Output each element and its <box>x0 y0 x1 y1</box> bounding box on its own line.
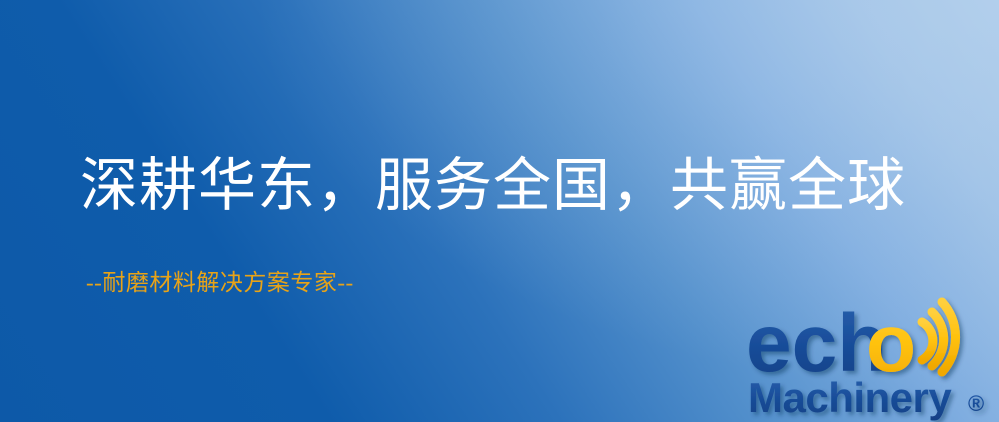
promo-banner: 深耕华东，服务全国，共赢全球 --耐磨材料解决方案专家-- <box>0 0 999 422</box>
logo-trademark-symbol: ® <box>968 391 984 416</box>
signal-wave-arcs-icon <box>922 302 956 372</box>
banner-headline: 深耕华东，服务全国，共赢全球 <box>80 152 906 220</box>
logo-tagline: Machinery <box>748 374 952 421</box>
banner-subtitle: --耐磨材料解决方案专家-- <box>86 268 354 298</box>
echo-machinery-logo[interactable]: ech o Machinery ® <box>746 296 999 422</box>
